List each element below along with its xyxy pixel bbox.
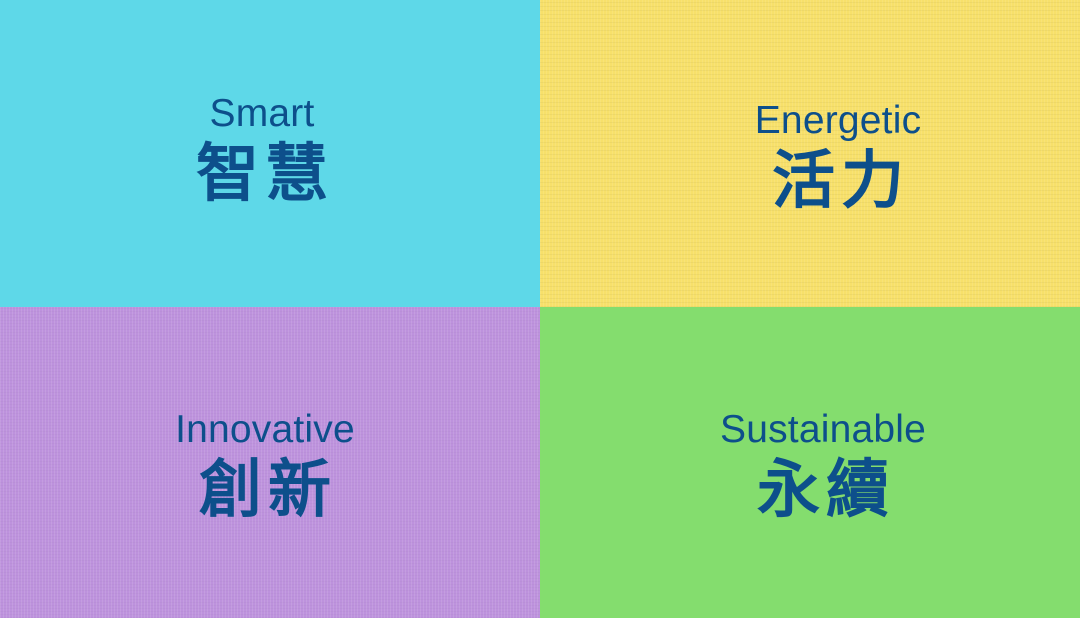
energetic-english-label: Energetic (755, 101, 922, 140)
smart-english-label: Smart (209, 94, 314, 133)
sustainable-chinese-label: 永續 (751, 458, 895, 521)
brand-values-grid: Smart 智慧 Energetic 活力 Innovative 創新 Sust… (0, 0, 1080, 618)
quadrant-smart: Smart 智慧 (0, 0, 540, 307)
quadrant-energetic: Energetic 活力 (540, 0, 1080, 307)
energetic-text-stack: Energetic 活力 (755, 101, 922, 212)
smart-text-stack: Smart 智慧 (190, 94, 334, 205)
quadrant-sustainable: Sustainable 永續 (540, 307, 1080, 618)
smart-chinese-label: 智慧 (190, 142, 334, 205)
sustainable-english-label: Sustainable (720, 410, 926, 449)
quadrant-innovative: Innovative 創新 (0, 307, 540, 618)
innovative-chinese-label: 創新 (193, 458, 337, 521)
energetic-chinese-label: 活力 (766, 149, 910, 212)
innovative-text-stack: Innovative 創新 (175, 410, 355, 521)
sustainable-text-stack: Sustainable 永續 (720, 410, 926, 521)
innovative-english-label: Innovative (175, 410, 355, 449)
